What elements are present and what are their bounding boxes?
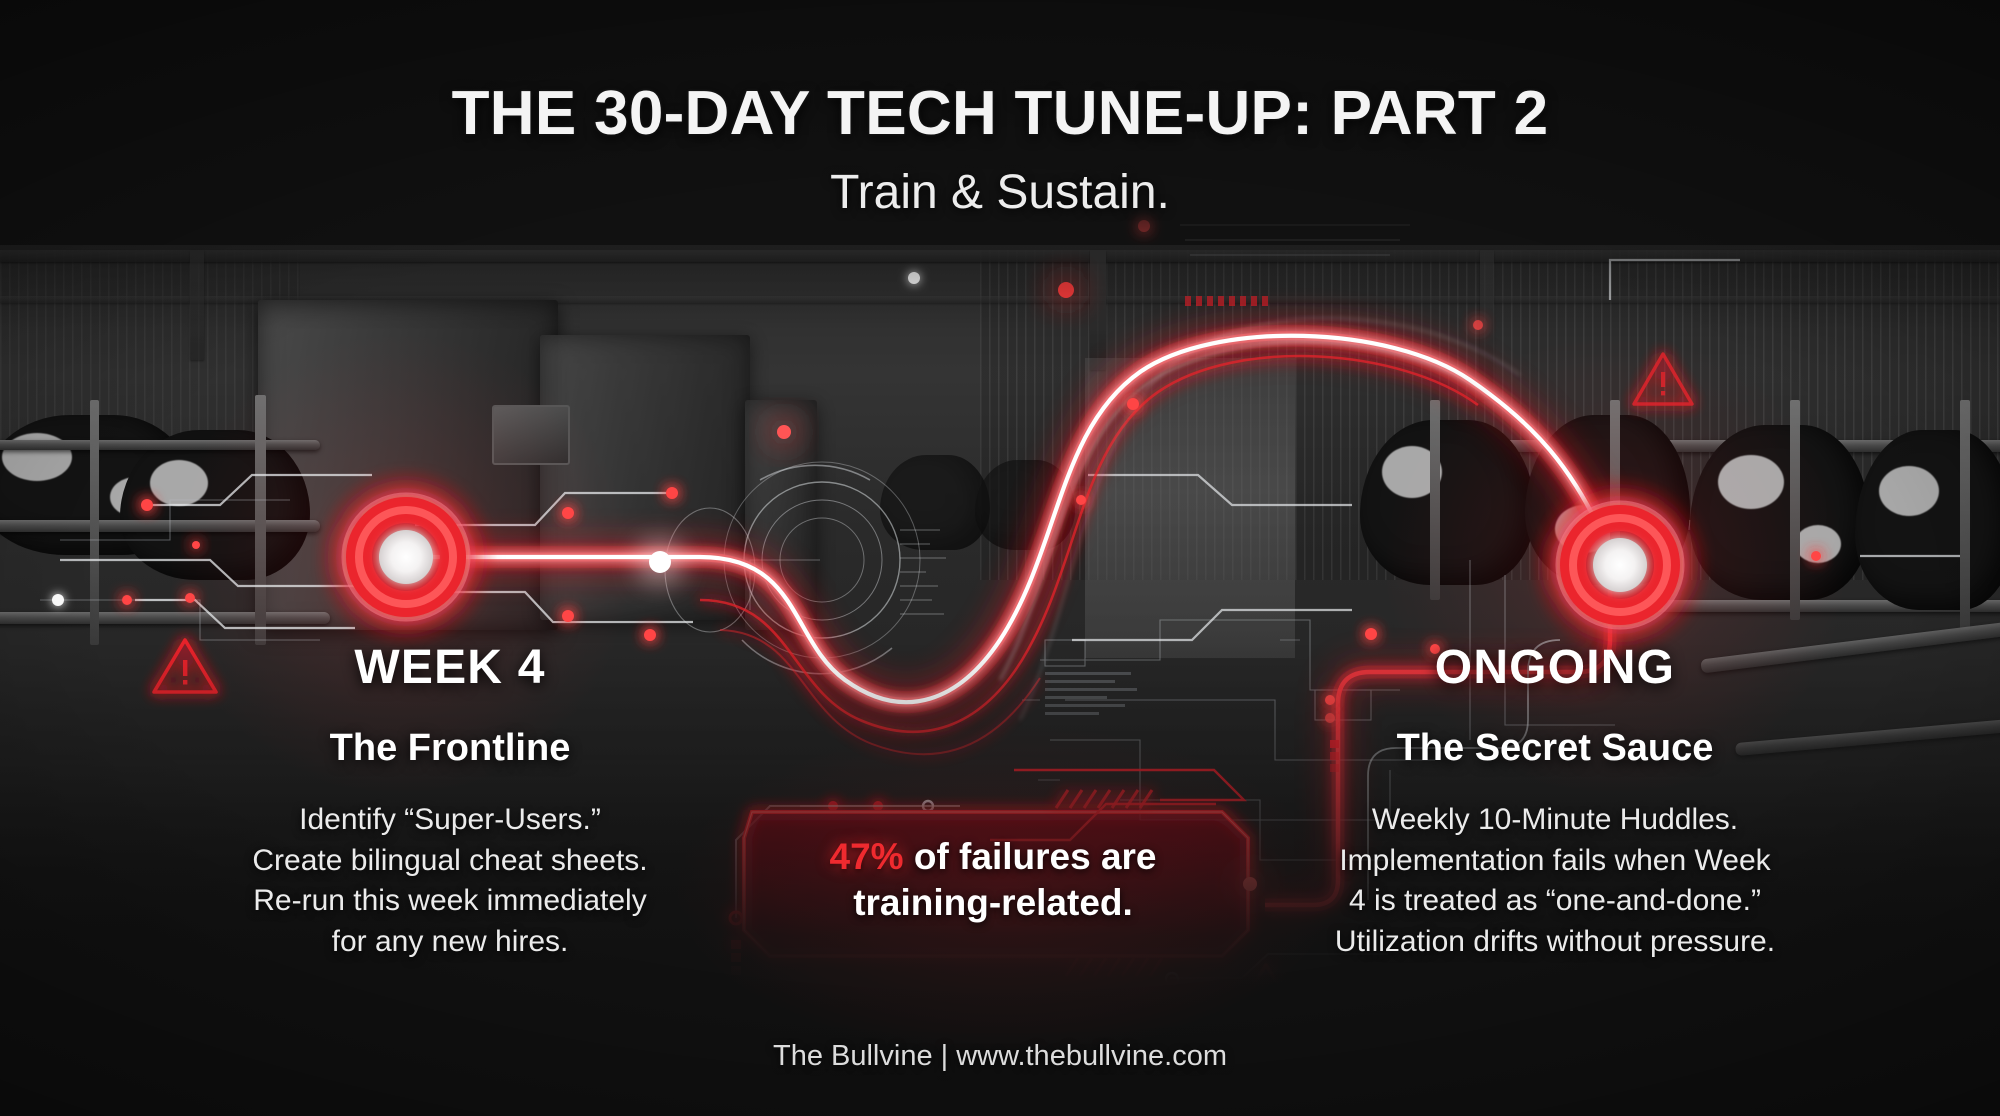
right-kicker: ONGOING (1215, 640, 1895, 695)
infographic-canvas: THE 30-DAY TECH TUNE-UP: PART 2 Train & … (0, 0, 2000, 1116)
right-subheading: The Secret Sauce (1215, 727, 1895, 770)
right-body-text: Weekly 10-Minute Huddles. Implementation… (1215, 800, 1895, 962)
left-body-text: Identify “Super-Users.” Create bilingual… (110, 800, 790, 962)
left-column: WEEK 4 The Frontline Identify “Super-Use… (110, 640, 790, 962)
left-kicker: WEEK 4 (110, 640, 790, 695)
footer-attribution: The Bullvine | www.thebullvine.com (0, 1040, 2000, 1073)
page-subtitle: Train & Sustain. (0, 165, 2000, 220)
stat-callout-box: 47% of failures are training-related. (738, 812, 1248, 947)
stat-callout-text: 47% of failures are training-related. (738, 812, 1248, 947)
stat-line-1-rest: of failures are (904, 836, 1157, 877)
left-subheading: The Frontline (110, 727, 790, 770)
right-column: ONGOING The Secret Sauce Weekly 10-Minut… (1215, 640, 1895, 962)
stat-line-2: training-related. (853, 880, 1133, 925)
page-title: THE 30-DAY TECH TUNE-UP: PART 2 (0, 78, 2000, 149)
stat-percentage: 47% (830, 836, 904, 877)
stat-line-1: 47% of failures are (830, 834, 1157, 879)
